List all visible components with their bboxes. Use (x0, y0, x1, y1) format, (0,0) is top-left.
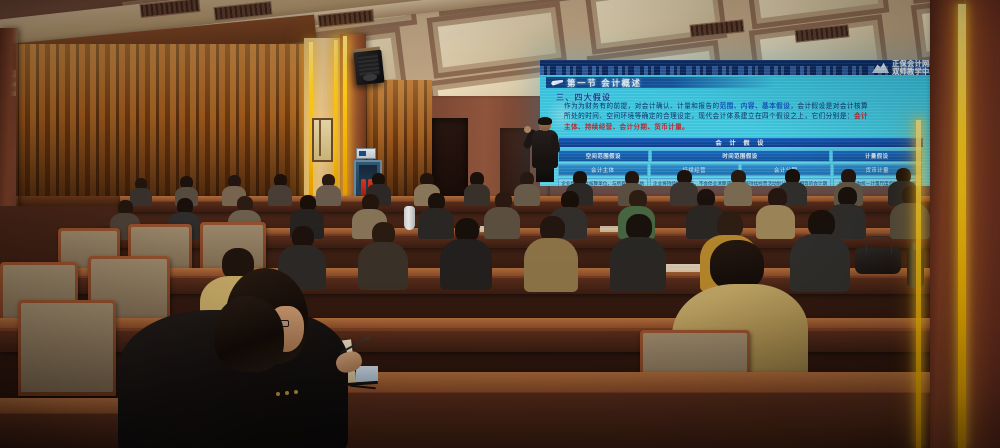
slide-body-lead: 作为为财务有的前提，对会计确认、计量和报告的 (564, 103, 720, 110)
attendee-torso (610, 237, 666, 292)
empty-chair (18, 300, 116, 396)
ceiling-light-panel (756, 0, 878, 18)
mountain-logo-icon (872, 62, 889, 73)
slide-body-emphasis-blue: 范围、内容、基本假设 (720, 103, 791, 110)
chair-cushion (21, 303, 113, 392)
attendee-torso (440, 239, 492, 290)
audience-attendee (524, 216, 578, 290)
pencil-icon (551, 80, 563, 86)
attendee-torso (524, 238, 578, 292)
wall-sconce (312, 118, 333, 162)
slide-table-header: 会 计 假 设 (558, 137, 924, 148)
student-hair-strand (214, 296, 284, 372)
vertical-led-strip (343, 36, 347, 202)
brand-block: 正保会计网校 双师教学中心 (872, 61, 937, 75)
ceiling-light-panel (438, 13, 556, 68)
screen-top-banner: 正保会计网校 双师教学中心 (540, 60, 940, 75)
attendee-torso (268, 185, 292, 206)
speaker-horn (363, 73, 378, 81)
slide-body-text: 作为为财务有的前提，对会计确认、计量和报告的范围、内容、基本假设，会计假设是对会… (564, 102, 868, 134)
audience-attendee (610, 214, 666, 290)
coat-button (276, 392, 280, 396)
audience-attendee (724, 170, 752, 204)
attendee-torso (890, 203, 930, 239)
attendee-head (710, 240, 764, 290)
handbag-strap (866, 236, 892, 253)
coat-button (285, 391, 289, 395)
presenter-hair (538, 117, 552, 125)
lecture-hall-photo: 正保会计网校 双师教学中心 第一节 会计概述 三、四大假设 作为为财务有的前提，… (0, 0, 1000, 448)
slide-section-title: 第一节 会计概述 (567, 77, 642, 89)
audience-attendee (440, 218, 492, 288)
wall-trim-left (0, 28, 18, 218)
wall-sconce-bar (319, 120, 321, 156)
vertical-led-strip-inner (916, 120, 921, 448)
stage-curtain (16, 44, 304, 206)
attendee-head (808, 210, 835, 237)
screen-surface: 正保会计网校 双师教学中心 第一节 会计概述 三、四大假设 作为为财务有的前提，… (540, 60, 940, 186)
presenter-hand (524, 126, 531, 133)
slide-table-group-row: 空间范围假设 时间范围假设 计量假设 (558, 150, 922, 162)
audience-attendee (890, 186, 930, 238)
slide-table-group-cell: 空间范围假设 (558, 150, 649, 162)
attendee-torso (724, 182, 752, 206)
led-presentation-screen: 正保会计网校 双师教学中心 第一节 会计概述 三、四大假设 作为为财务有的前提，… (540, 60, 940, 186)
vertical-led-strip-right (958, 4, 966, 448)
column-wood-far-right (966, 0, 1000, 448)
audience-attendee (268, 174, 292, 204)
slide-table-group-cell: 时间范围假设 (651, 150, 830, 162)
slide-table-group-cell: 计量假设 (832, 150, 923, 162)
ceiling-speaker (353, 50, 384, 86)
wall-sign-plate (356, 148, 376, 159)
coat-button (294, 390, 298, 394)
slide-section-bar: 第一节 会计概述 (546, 77, 775, 88)
